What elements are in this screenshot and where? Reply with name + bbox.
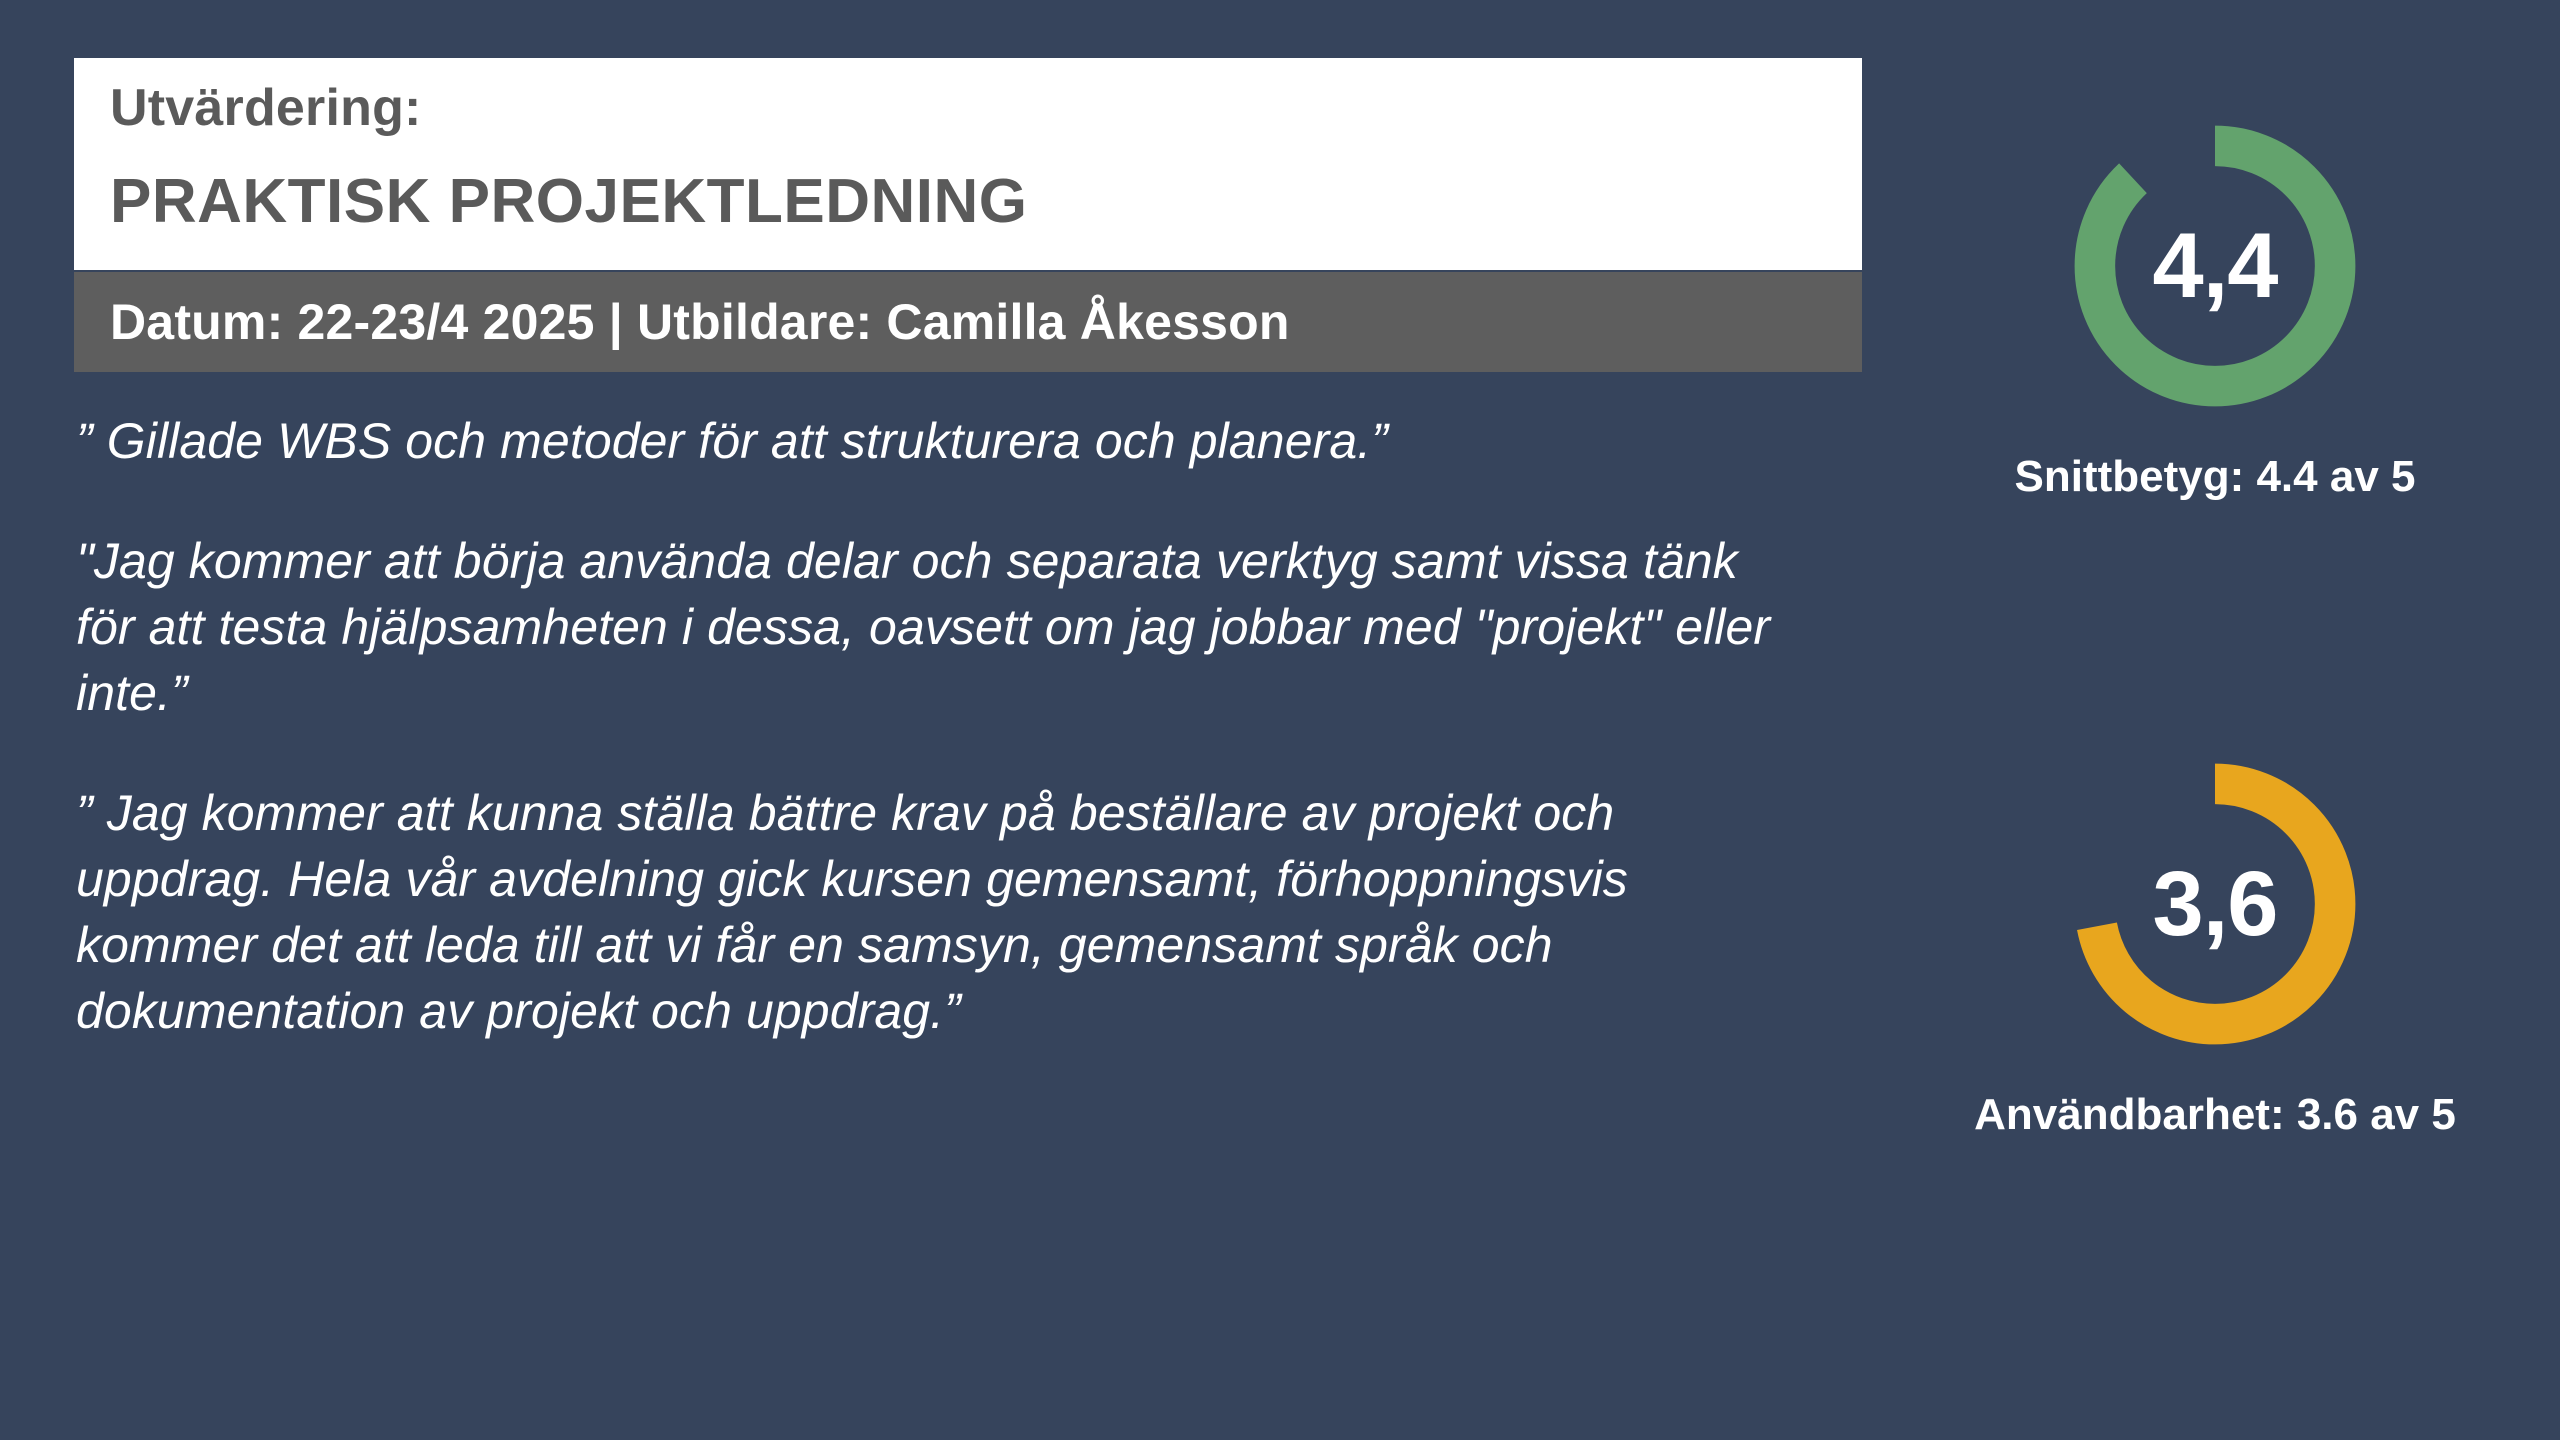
quote-item: ” Gillade WBS och metoder för att strukt…	[76, 408, 1796, 474]
slide-canvas: Utvärdering: PRAKTISK PROJEKTLEDNING Dat…	[0, 0, 2560, 1440]
course-meta-text: Datum: 22-23/4 2025 | Utbildare: Camilla…	[110, 293, 1290, 351]
donut-chart-snittbetyg: 4,4	[2059, 110, 2371, 422]
meta-bar: Datum: 22-23/4 2025 | Utbildare: Camilla…	[74, 272, 1862, 372]
gauge-snittbetyg: 4,4 Snittbetyg: 4.4 av 5	[1945, 110, 2485, 502]
gauge-anvandbarhet: 3,6 Användbarhet: 3.6 av 5	[1945, 748, 2485, 1140]
quote-item: "Jag kommer att börja använda delar och …	[76, 528, 1796, 726]
quote-item: ” Jag kommer att kunna ställa bättre kra…	[76, 780, 1796, 1044]
title-card: Utvärdering: PRAKTISK PROJEKTLEDNING	[74, 58, 1862, 270]
eyebrow-label: Utvärdering:	[110, 80, 1862, 137]
page-title: PRAKTISK PROJEKTLEDNING	[110, 169, 1862, 234]
gauge-caption-anvandbarhet: Användbarhet: 3.6 av 5	[1945, 1090, 2485, 1140]
gauge-caption-snittbetyg: Snittbetyg: 4.4 av 5	[1945, 452, 2485, 502]
quote-list: ” Gillade WBS och metoder för att strukt…	[76, 408, 1796, 1044]
gauge-value-snittbetyg: 4,4	[2059, 110, 2371, 422]
gauge-value-anvandbarhet: 3,6	[2059, 748, 2371, 1060]
donut-chart-anvandbarhet: 3,6	[2059, 748, 2371, 1060]
